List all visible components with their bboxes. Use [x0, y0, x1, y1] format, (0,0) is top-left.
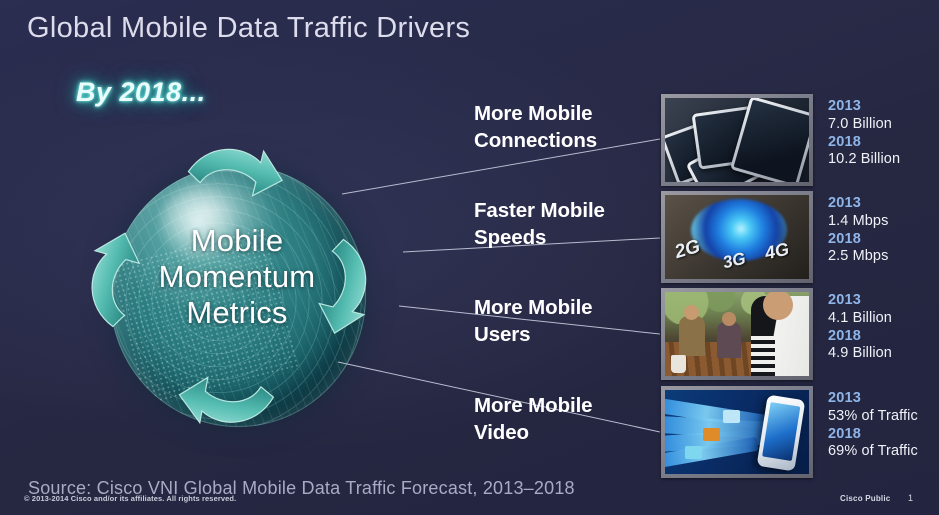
stat-year: 2018: [828, 134, 939, 152]
stat-year: 2013: [828, 390, 939, 408]
person-foreground-shape: [751, 296, 809, 376]
driver-label-line1: Faster Mobile: [474, 197, 664, 224]
page-number: 1: [908, 493, 913, 503]
sphere-label-line1: Mobile: [106, 223, 368, 259]
copyright-notice: © 2013-2014 Cisco and/or its affiliates.…: [24, 494, 236, 503]
stat-value: 4.9 Billion: [828, 345, 939, 363]
stat-year: 2013: [828, 195, 939, 213]
vortex-label-4g: 4G: [763, 239, 791, 265]
people-at-cafe-image: [665, 292, 809, 376]
driver-label-line1: More Mobile: [474, 392, 664, 419]
stat-value: 2.5 Mbps: [828, 248, 939, 266]
driver-label-line2: Speeds: [474, 224, 664, 251]
cafe-artwork: [665, 292, 809, 376]
stat-year: 2018: [828, 231, 939, 249]
driver-label: More Mobile Connections: [474, 100, 664, 155]
devices-pile-image: [665, 98, 809, 182]
person-shape: [717, 322, 741, 358]
streaming-video-phone-image: [665, 390, 809, 474]
person-shape: [679, 316, 705, 356]
stat-value: 53% of Traffic: [828, 408, 939, 426]
sphere-label-line2: Momentum: [106, 259, 368, 295]
driver-stats: 2013 7.0 Billion 2018 10.2 Billion: [828, 98, 939, 169]
stat-value: 69% of Traffic: [828, 443, 939, 461]
vortex-label-3g: 3G: [721, 249, 748, 274]
driver-stats: 2013 53% of Traffic 2018 69% of Traffic: [828, 390, 939, 461]
driver-label-line1: More Mobile: [474, 100, 664, 127]
video-tile-shape: [685, 446, 702, 459]
driver-label-line1: More Mobile: [474, 294, 664, 321]
page-title: Global Mobile Data Traffic Drivers: [27, 12, 470, 45]
vortex-label-2g: 2G: [672, 236, 702, 264]
driver-label: More Mobile Users: [474, 294, 664, 349]
stat-value: 1.4 Mbps: [828, 213, 939, 231]
driver-label-line2: Video: [474, 419, 664, 446]
driver-thumbnail-frame[interactable]: 2G 3G 4G: [661, 191, 813, 283]
driver-stats: 2013 4.1 Billion 2018 4.9 Billion: [828, 292, 939, 363]
classification-label: Cisco Public: [840, 494, 890, 503]
video-tile-shape: [723, 410, 740, 423]
driver-label-line2: Users: [474, 321, 664, 348]
stat-year: 2013: [828, 98, 939, 116]
sphere-label-line3: Metrics: [106, 295, 368, 331]
driver-label: More Mobile Video: [474, 392, 664, 447]
stat-year: 2013: [828, 292, 939, 310]
video-tile-shape: [703, 428, 720, 441]
driver-thumbnail-frame[interactable]: [661, 94, 813, 186]
network-generations-vortex-image: 2G 3G 4G: [665, 195, 809, 279]
driver-label-line2: Connections: [474, 127, 664, 154]
presentation-slide: Global Mobile Data Traffic Drivers By 20…: [0, 0, 939, 515]
stat-year: 2018: [828, 426, 939, 444]
driver-label: Faster Mobile Speeds: [474, 197, 664, 252]
by-2018-callout: By 2018...: [76, 77, 206, 108]
video-artwork: [665, 390, 809, 474]
stat-value: 4.1 Billion: [828, 310, 939, 328]
mobile-momentum-sphere: Mobile Momentum Metrics: [58, 143, 418, 453]
vortex-artwork: 2G 3G 4G: [665, 195, 809, 279]
stat-value: 10.2 Billion: [828, 151, 939, 169]
driver-stats: 2013 1.4 Mbps 2018 2.5 Mbps: [828, 195, 939, 266]
stat-year: 2018: [828, 328, 939, 346]
stat-value: 7.0 Billion: [828, 116, 939, 134]
smartphone-shape: [757, 394, 806, 471]
sphere-label: Mobile Momentum Metrics: [106, 223, 368, 331]
cup-shape: [671, 355, 686, 373]
devices-artwork: [665, 98, 809, 182]
driver-thumbnail-frame[interactable]: [661, 386, 813, 478]
driver-thumbnail-frame[interactable]: [661, 288, 813, 380]
